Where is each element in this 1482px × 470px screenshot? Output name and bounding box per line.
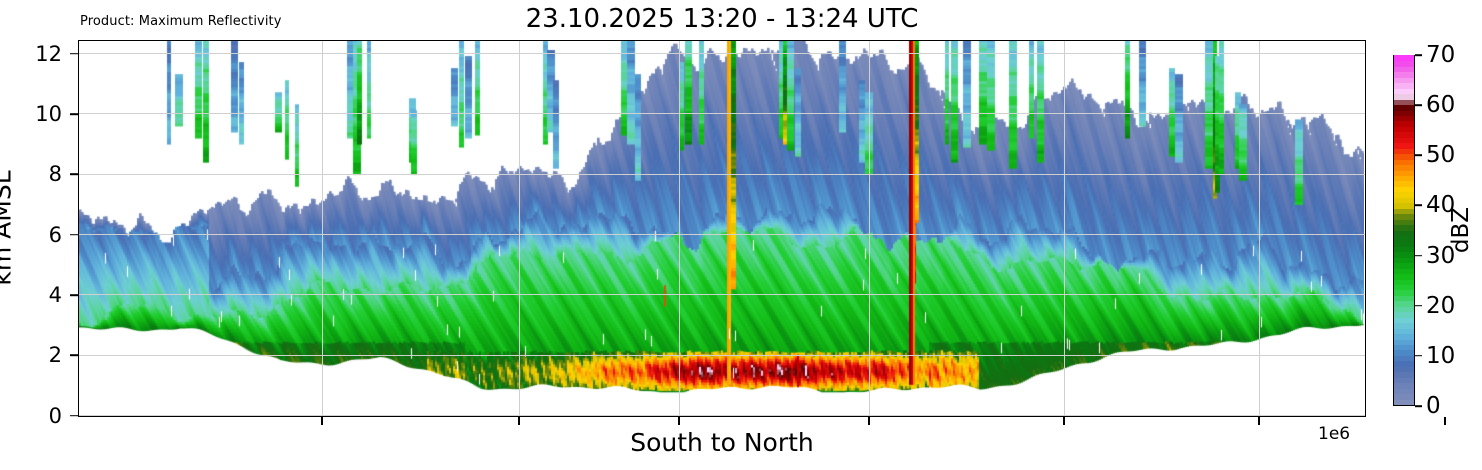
- colorbar-tick-mark: [1415, 305, 1422, 307]
- y-axis-title: km AMSL: [0, 118, 17, 338]
- plot-area: [78, 40, 1366, 417]
- colorbar: [1393, 55, 1415, 406]
- x-tick-mark: [1258, 417, 1260, 425]
- x-axis-title: South to North: [78, 428, 1366, 457]
- colorbar-tick-label: 50: [1426, 142, 1455, 168]
- colorbar-tick-mark: [1415, 355, 1422, 357]
- y-tick-mark: [70, 174, 78, 176]
- radar-cross-section-figure: Product: Maximum Reflectivity 23.10.2025…: [0, 0, 1482, 470]
- x-tick-mark: [1444, 417, 1446, 425]
- y-tick-mark: [70, 415, 78, 417]
- colorbar-tick-label: 20: [1426, 293, 1455, 319]
- y-tick-mark: [70, 113, 78, 115]
- page-title: 23.10.2025 13:20 - 13:24 UTC: [78, 4, 1366, 34]
- colorbar-tick-label: 70: [1426, 42, 1455, 68]
- y-tick-label: 0: [49, 404, 62, 428]
- colorbar-tick-mark: [1415, 154, 1422, 156]
- colorbar-title: dBZ: [1448, 170, 1474, 290]
- y-tick-label: 4: [49, 283, 62, 307]
- colorbar-tick-mark: [1415, 104, 1422, 106]
- x-tick-mark: [518, 417, 520, 425]
- radar-reflectivity-raster: [79, 41, 1364, 415]
- y-tick-mark: [70, 234, 78, 236]
- y-tick-label: 10: [35, 102, 62, 126]
- colorbar-segment: [1394, 55, 1414, 62]
- y-tick-mark: [70, 354, 78, 356]
- colorbar-tick-label: 10: [1426, 343, 1455, 369]
- colorbar-tick-mark: [1415, 255, 1422, 257]
- y-tick-label: 2: [49, 343, 62, 367]
- colorbar-tick-label: 0: [1426, 393, 1441, 419]
- y-tick-label: 12: [35, 42, 62, 66]
- colorbar-tick-label: 60: [1426, 92, 1455, 118]
- x-tick-mark: [678, 417, 680, 425]
- x-tick-mark: [1063, 417, 1065, 425]
- x-axis-offset-label: 1e6: [1318, 424, 1350, 444]
- y-tick-label: 8: [49, 162, 62, 186]
- y-tick-label: 6: [49, 223, 62, 247]
- y-tick-mark: [70, 294, 78, 296]
- colorbar-tick-mark: [1415, 405, 1422, 407]
- x-tick-mark: [321, 417, 323, 425]
- colorbar-tick-mark: [1415, 54, 1422, 56]
- x-tick-mark: [868, 417, 870, 425]
- grid-line-horizontal: [79, 415, 1365, 416]
- colorbar-gradient: [1393, 55, 1415, 406]
- colorbar-tick-mark: [1415, 205, 1422, 207]
- y-tick-mark: [70, 53, 78, 55]
